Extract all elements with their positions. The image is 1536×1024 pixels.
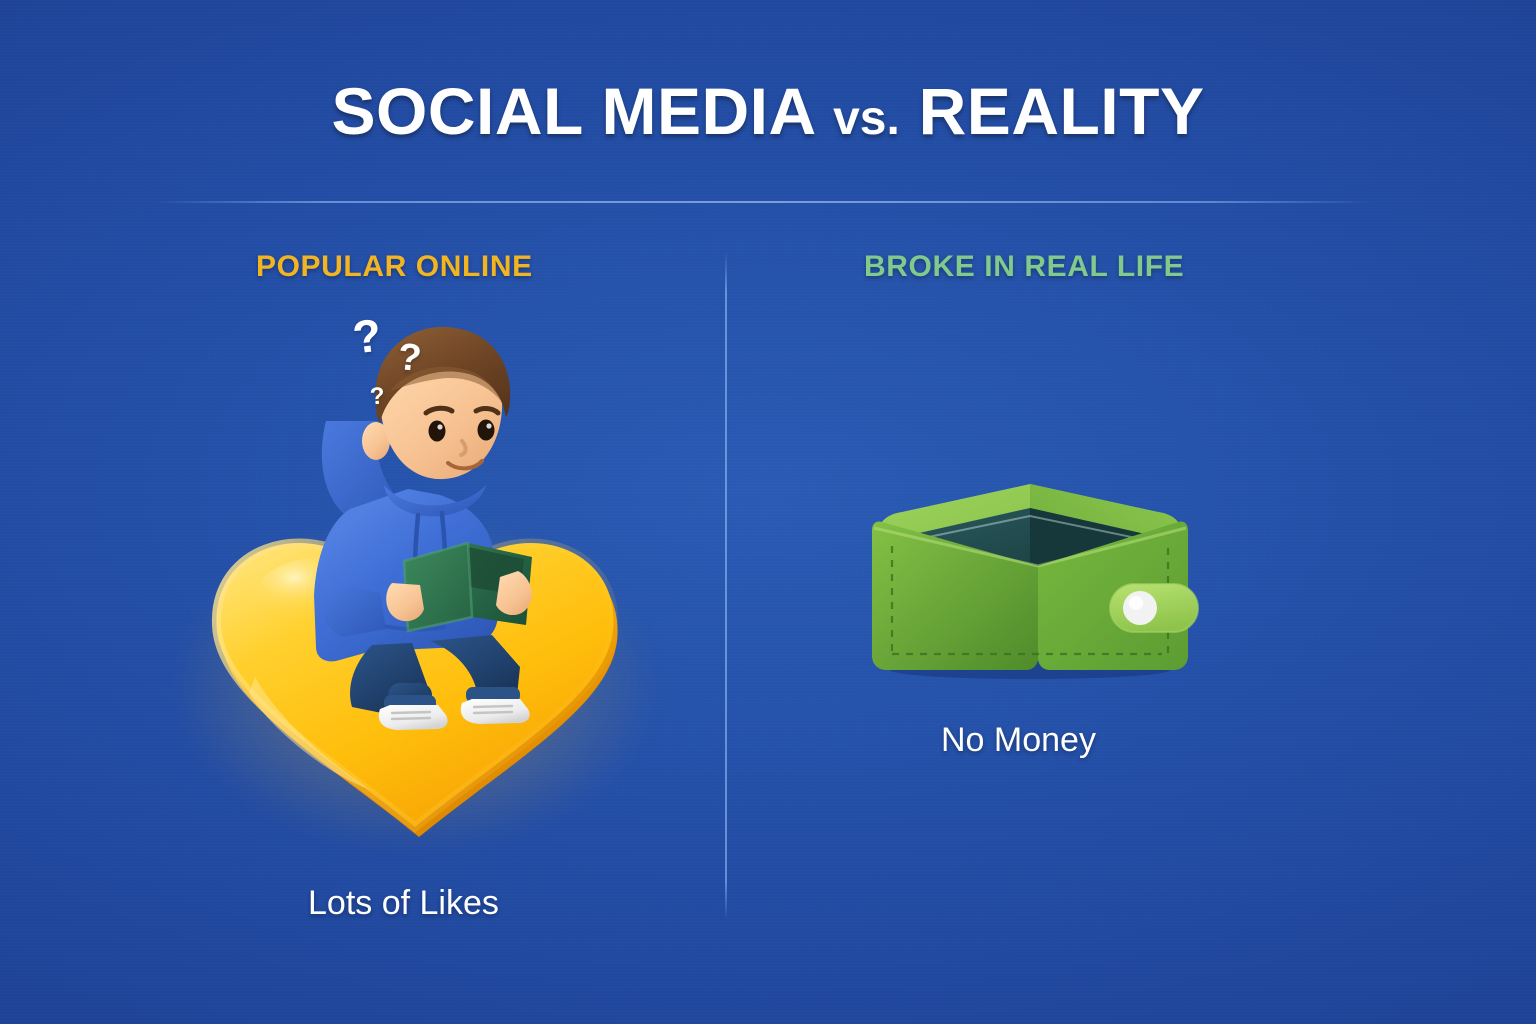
left-panel-heading: POPULAR ONLINE [256,250,533,284]
right-caption: No Money [941,721,1096,760]
left-illustration: ? ? ? [185,295,645,865]
page-title-part-2: REALITY [919,74,1205,148]
question-mark-2: ? [396,338,423,378]
vertical-divider [725,252,727,920]
question-mark-1: ? [350,311,384,360]
page-title: SOCIAL MEDIA vs. REALITY [0,78,1536,144]
question-marks-icon: ? ? ? [350,307,460,417]
horizontal-divider [152,201,1376,203]
wallet-icon [862,462,1198,682]
right-panel-heading: BROKE IN REAL LIFE [864,250,1184,284]
infographic-canvas: SOCIAL MEDIA vs. REALITY POPULAR ONLINE … [0,0,1536,1024]
question-mark-3: ? [369,385,385,410]
left-caption: Lots of Likes [308,884,499,923]
page-title-part-1: SOCIAL MEDIA [332,74,815,148]
page-title-vs: vs. [833,92,900,145]
